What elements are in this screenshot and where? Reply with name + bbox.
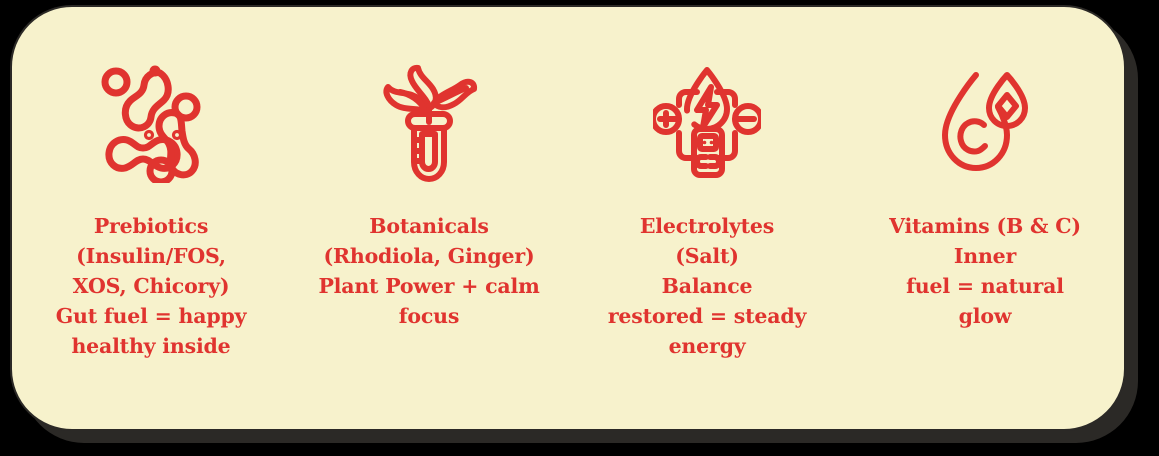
infographic-card-stage: Prebiotics (Insulin/FOS, XOS, Chicory) G… <box>0 0 1159 456</box>
test-tube-plant-icon <box>369 59 489 189</box>
electrolyte-droplet-bolt-icon <box>647 59 767 189</box>
ingredient-caption: Electrolytes (Salt) Balance restored = s… <box>600 211 815 361</box>
ingredient-column-prebiotics: Prebiotics (Insulin/FOS, XOS, Chicory) G… <box>16 59 286 361</box>
ingredient-columns: Prebiotics (Insulin/FOS, XOS, Chicory) G… <box>12 7 1124 429</box>
ingredient-caption: Botanicals (Rhodiola, Ginger) Plant Powe… <box>304 211 554 331</box>
vitamin-c-droplet-icon <box>925 59 1045 189</box>
ingredient-column-botanicals: Botanicals (Rhodiola, Ginger) Plant Powe… <box>294 59 564 331</box>
ingredient-column-electrolytes: Electrolytes (Salt) Balance restored = s… <box>572 59 842 361</box>
ingredient-caption: Vitamins (B & C) Inner fuel = natural gl… <box>870 211 1100 331</box>
ingredient-caption: Prebiotics (Insulin/FOS, XOS, Chicory) G… <box>44 211 259 361</box>
ingredient-benefits-card: Prebiotics (Insulin/FOS, XOS, Chicory) G… <box>10 5 1126 431</box>
microbiome-bacteria-icon <box>91 59 211 189</box>
ingredient-column-vitamins: Vitamins (B & C) Inner fuel = natural gl… <box>850 59 1120 331</box>
